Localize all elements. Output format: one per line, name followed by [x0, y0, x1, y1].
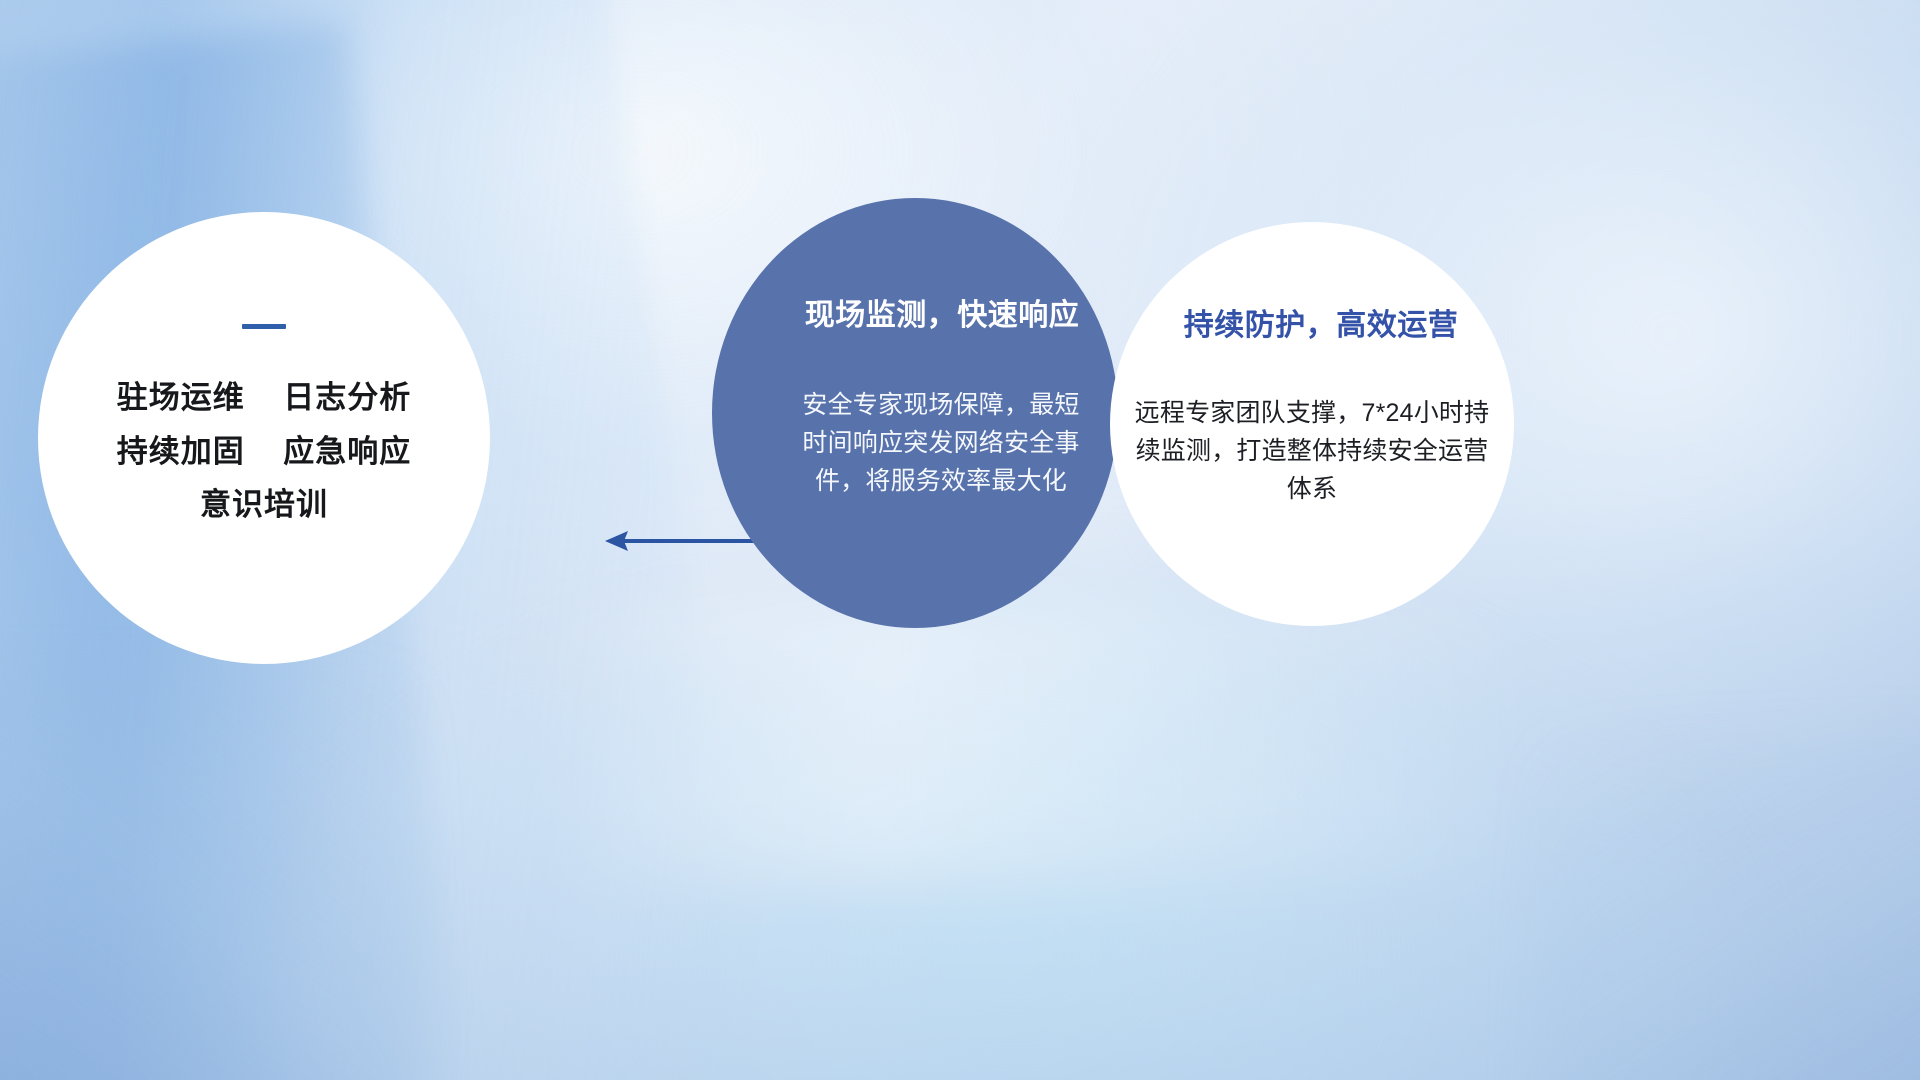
middle-circle-body: 安全专家现场保障，最短时间响应突发网络安全事件，将服务效率最大化 — [791, 386, 1091, 500]
left-circle-line-3: 意识培训 — [200, 488, 328, 523]
background-corner-right — [1536, 734, 1920, 1080]
right-circle-title: 持续防护，高效运营 — [1184, 300, 1459, 344]
left-circle-line-1: 驻场运维 日志分析 — [117, 381, 411, 416]
right-continuous-circle: 持续防护，高效运营 远程专家团队支撑，7*24小时持续监测，打造整体持续安全运营… — [1110, 222, 1514, 626]
slide-canvas: 驻场运维 日志分析 持续加固 应急响应 意识培训 现场监测，快速响应 安全专家现… — [0, 0, 1920, 1080]
background-corner-left — [0, 670, 422, 1080]
middle-circle-title: 现场监测，快速响应 — [805, 290, 1080, 334]
left-circle-line-2: 持续加固 应急响应 — [117, 435, 411, 470]
divider-dash-icon — [242, 324, 286, 329]
middle-onsite-circle: 现场监测，快速响应 安全专家现场保障，最短时间响应突发网络安全事件，将服务效率最… — [712, 198, 1118, 628]
left-service-circle: 驻场运维 日志分析 持续加固 应急响应 意识培训 — [38, 212, 490, 664]
right-circle-body: 远程专家团队支撑，7*24小时持续监测，打造整体持续安全运营体系 — [1134, 394, 1490, 508]
left-circle-keyword-list: 驻场运维 日志分析 持续加固 应急响应 意识培训 — [117, 381, 411, 523]
